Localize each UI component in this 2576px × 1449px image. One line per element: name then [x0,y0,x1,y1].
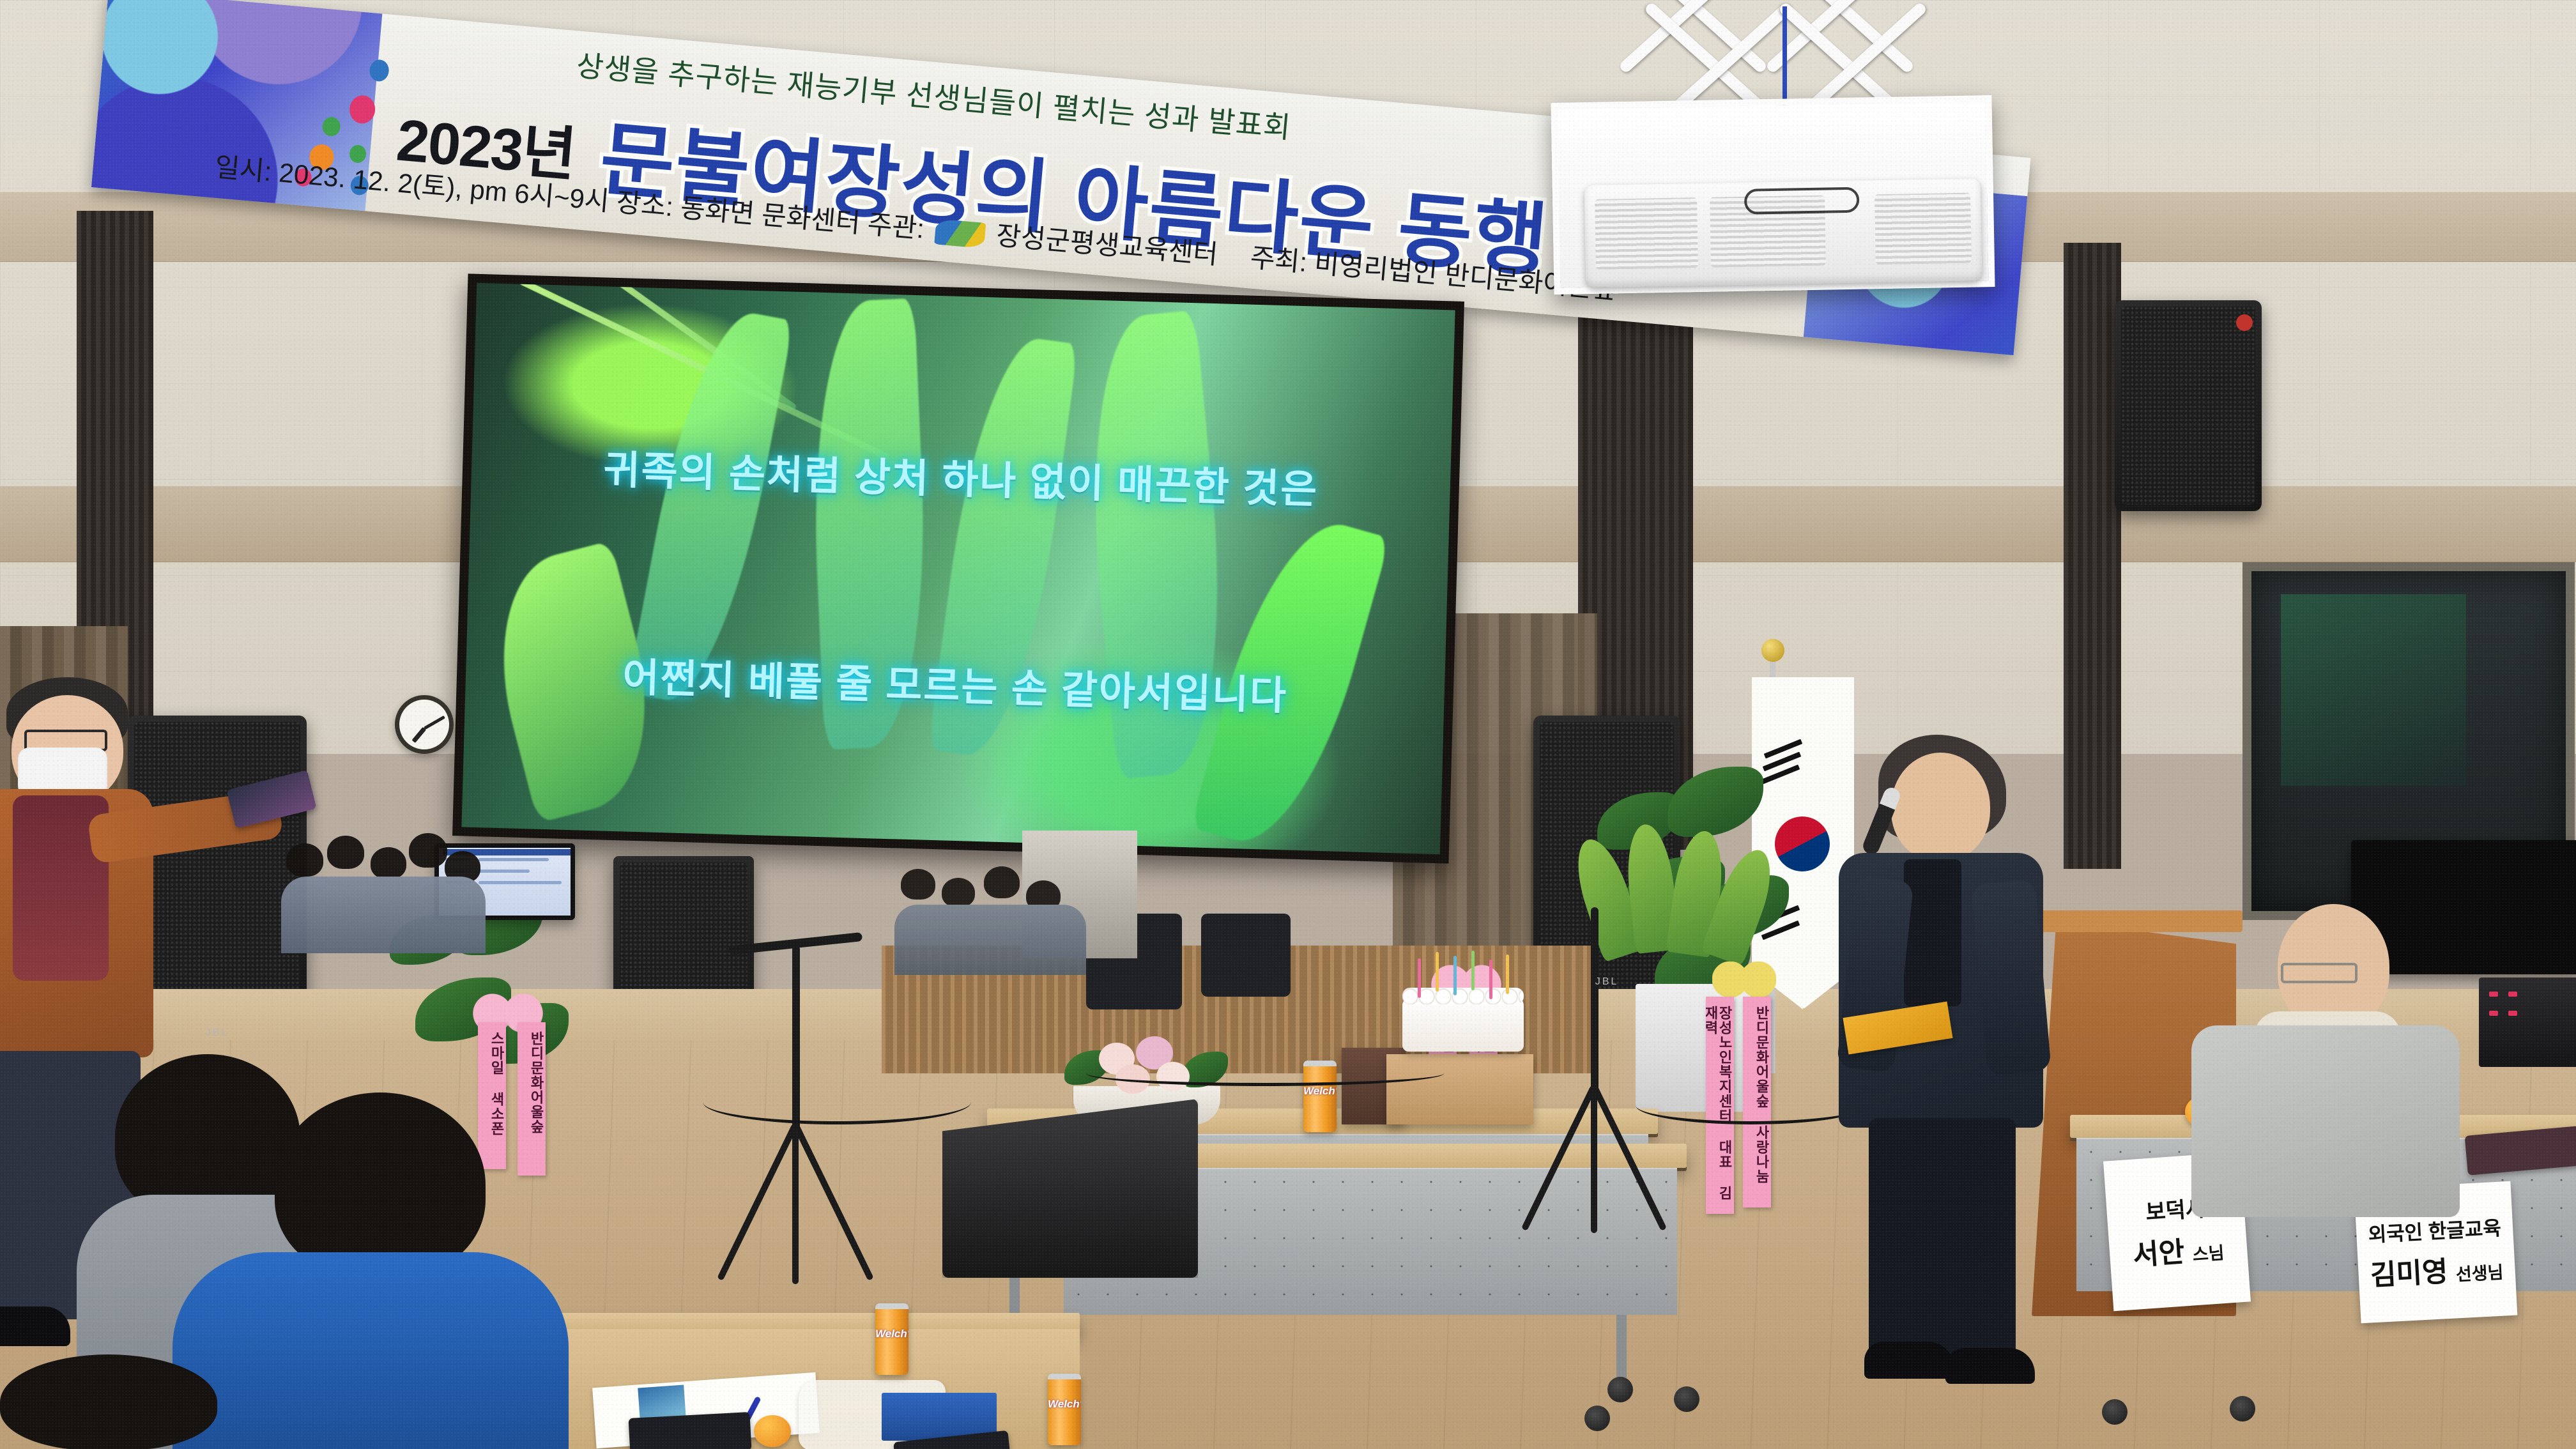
person-monk [2185,904,2466,1204]
mic-tripod-stand-2 [1495,907,1699,1265]
flag-finial-icon [1761,639,1784,662]
monk-robe [2191,1025,2460,1217]
speaker-brand-label: JBL [206,1027,229,1039]
smartphone-on-desk [629,1412,752,1449]
guest-table-caster [2230,1396,2255,1422]
flower-ribbon-left-a: 스마일 색소폰 [478,1022,506,1169]
front-table-caster [1584,1406,1610,1431]
clock-hour-hand [411,727,426,743]
jangseong-logo-icon [934,218,986,249]
photographer-shoe [0,1307,70,1346]
mandarin-orange [754,1415,791,1447]
speaker-brand-label: JBL [1595,976,1619,988]
projected-image: 귀족의 손처럼 상처 하나 없이 매끈한 것은 어쩐지 베풀 줄 모르는 손 같… [461,283,1455,854]
background-chair-2 [1201,914,1291,997]
flower-arrangement [1061,1022,1233,1099]
presenter-shoe-right [1945,1348,2035,1384]
nameplate-name: 서안 스님 [2131,1226,2225,1273]
audience-head-front-blue [275,1092,486,1278]
audience-head-bottom-left [0,1354,217,1449]
welchs-can-desk-2: Welch's [1048,1374,1081,1445]
monk-glasses-icon [2281,963,2357,983]
floor-cable [703,1080,971,1124]
stage-table-caster [1607,1377,1633,1402]
beverage-brand-label: Welch's [1303,1085,1337,1098]
projector-icon [1584,178,1982,287]
floor-cable-3 [1086,1061,1444,1086]
audience-shoulders-blue [172,1252,569,1449]
projection-screen: 귀족의 손처럼 상처 하나 없이 매끈한 것은 어쩐지 베풀 줄 모르는 손 같… [452,273,1464,863]
front-table-caster [1674,1386,1699,1412]
person-presenter [1808,735,2108,1412]
speaker-badge-icon [2236,314,2253,331]
av-equipment-rack [2479,977,2576,1067]
beverage-brand-label: Welch's [875,1328,908,1340]
distant-audience-group-2 [894,850,1099,997]
ribbon-bow-right [1712,962,1776,997]
speaker-wall-right [2115,300,2262,511]
wall-clock [395,695,454,754]
event-hall-photo: 상생을 추구하는 재능기부 선생님들이 펼치는 성과 발표회 2023년 문불여… [0,0,2576,1449]
clock-minute-hand [424,716,445,730]
distant-audience-group [281,818,486,984]
beverage-brand-label: Welch's [1048,1398,1081,1411]
welchs-can-desk: Welch's [875,1303,908,1375]
nameplate-name: 김미영 선생님 [2369,1245,2504,1293]
presenter-head [1891,753,1990,861]
projector-housing [1551,95,1995,295]
presenter-shirt [1904,859,1961,1006]
screen-text-line-1: 귀족의 손처럼 상처 하나 없이 매끈한 것은 [471,434,1451,519]
flower-ribbon-left-b: 반디문화어울숲 [517,1022,546,1176]
presenter-shoe-left [1864,1342,1954,1379]
presenter-trousers [1869,1118,2016,1361]
window-screen-reflection [2281,594,2466,786]
mic-tripod-stand [690,946,907,1303]
